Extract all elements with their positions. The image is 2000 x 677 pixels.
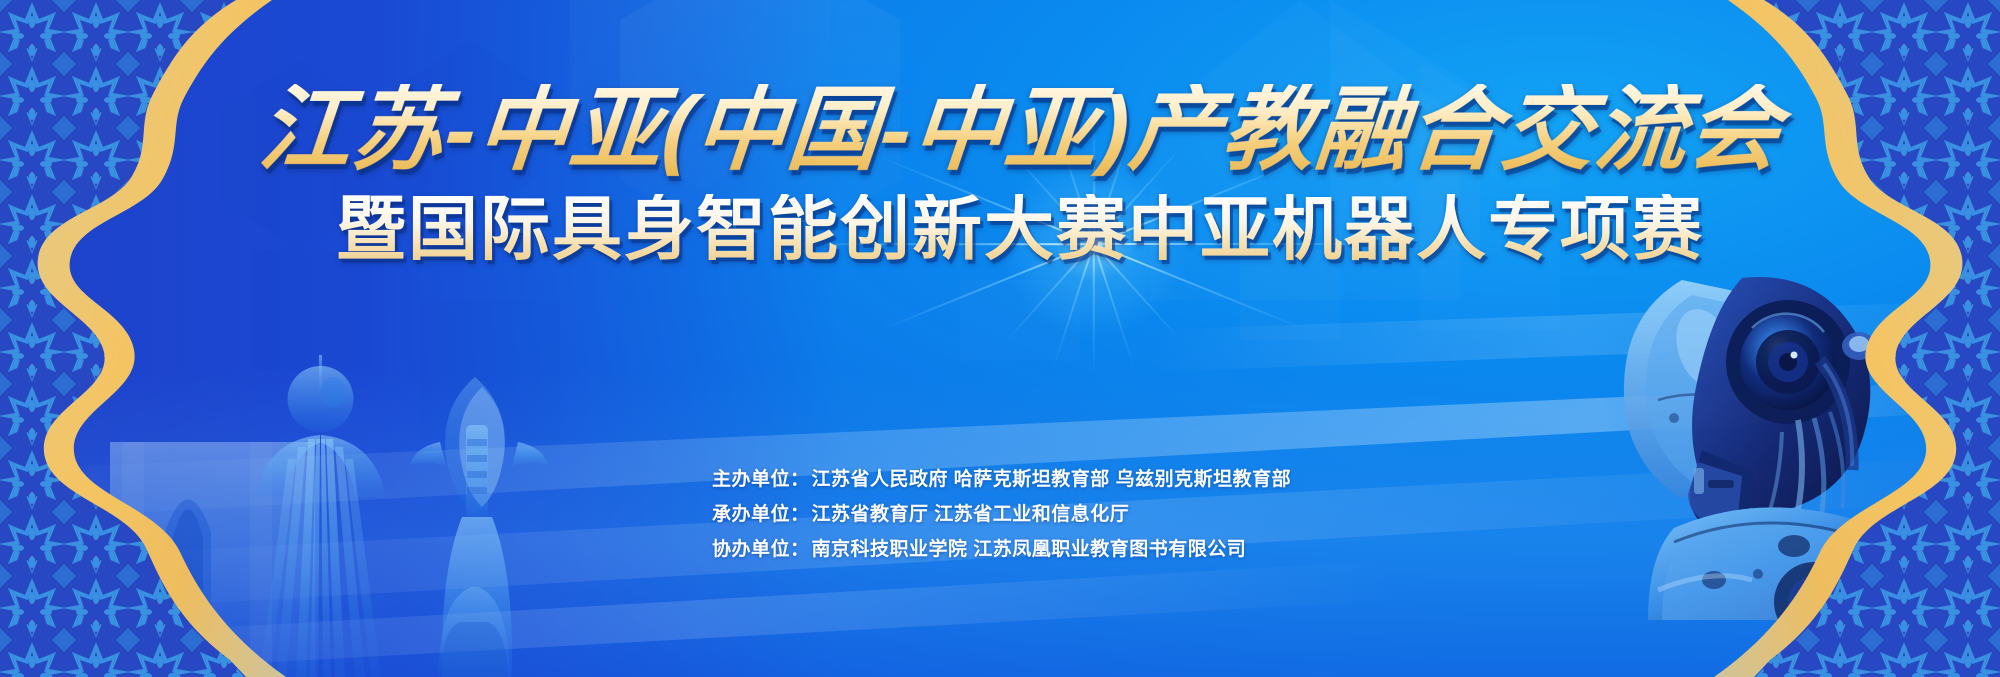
title-block: 江苏-中亚(中国-中亚)产教融合交流会 暨国际具身智能创新大赛中亚机器人专项赛 bbox=[0, 84, 2000, 264]
organizer-label-undertaker: 承办单位： bbox=[712, 505, 810, 524]
organizer-value-coorganizer: 南京科技职业学院 江苏凤凰职业教育图书有限公司 bbox=[812, 540, 1247, 559]
organizer-label-coorganizer: 协办单位： bbox=[712, 540, 810, 559]
organizer-row-host: 主办单位： 江苏省人民政府 哈萨克斯坦教育部 乌兹别克斯坦教育部 bbox=[712, 470, 1291, 489]
event-title-line2: 暨国际具身智能创新大赛中亚机器人专项赛 bbox=[40, 194, 2000, 264]
organizer-info: 主办单位： 江苏省人民政府 哈萨克斯坦教育部 乌兹别克斯坦教育部 承办单位： 江… bbox=[712, 470, 1291, 559]
event-banner: 江苏-中亚(中国-中亚)产教融合交流会 暨国际具身智能创新大赛中亚机器人专项赛 … bbox=[0, 0, 2000, 677]
organizer-value-host: 江苏省人民政府 哈萨克斯坦教育部 乌兹别克斯坦教育部 bbox=[812, 470, 1292, 489]
organizer-value-undertaker: 江苏省教育厅 江苏省工业和信息化厅 bbox=[812, 505, 1130, 524]
organizer-row-undertaker: 承办单位： 江苏省教育厅 江苏省工业和信息化厅 bbox=[712, 505, 1291, 524]
organizer-label-host: 主办单位： bbox=[712, 470, 810, 489]
uzbekistan-independence-monument-silhouette bbox=[410, 377, 548, 677]
organizer-row-coorganizer: 协办单位： 南京科技职业学院 江苏凤凰职业教育图书有限公司 bbox=[712, 540, 1291, 559]
event-title-line1: 江苏-中亚(中国-中亚)产教融合交流会 bbox=[36, 84, 2000, 176]
